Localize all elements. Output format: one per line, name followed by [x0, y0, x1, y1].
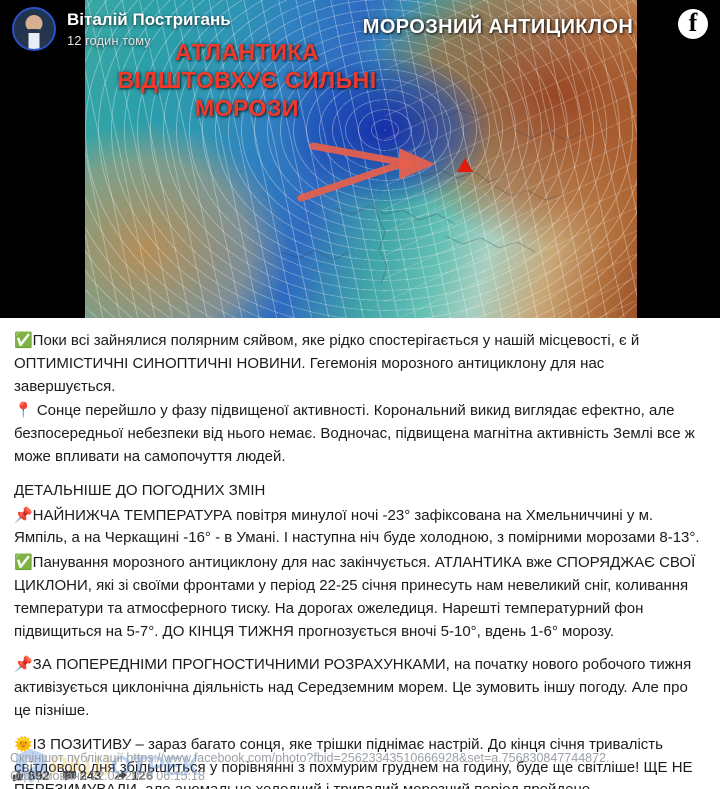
- post-body: ✅Поки всі зайнялися полярним сяйвом, яке…: [0, 318, 720, 789]
- post-media[interactable]: АТЛАНТИКА ВІДШТОВХУЄ СИЛЬНІ МОРОЗИ МОРОЗ…: [0, 0, 720, 318]
- stat-shares-value: 126: [131, 768, 153, 783]
- post-timestamp: 12 годин тому: [67, 33, 231, 48]
- facebook-icon: f: [678, 9, 708, 39]
- paragraph-4: 📌НАЙНИЖЧА ТЕМПЕРАТУРА повітря минулої но…: [14, 505, 706, 551]
- author-name[interactable]: Віталій Постригань: [67, 10, 231, 30]
- paragraph-6: 📌ЗА ПОПЕРЕДНІМИ ПРОГНОСТИЧНИМИ РОЗРАХУНК…: [14, 654, 706, 722]
- paragraph-1: ✅Поки всі зайнялися полярним сяйвом, яке…: [14, 330, 706, 398]
- share-arrow-icon: [113, 768, 128, 783]
- stat-shares[interactable]: 126: [113, 768, 153, 783]
- paragraph-5: ✅Панування морозного антициклону для нас…: [14, 552, 706, 643]
- facebook-icon-glyph: f: [689, 10, 698, 36]
- facebook-post-card: АТЛАНТИКА ВІДШТОВХУЄ СИЛЬНІ МОРОЗИ МОРОЗ…: [0, 0, 720, 789]
- comment-icon: [62, 768, 77, 783]
- post-header-text: Віталій Постригань 12 годин тому: [67, 10, 231, 48]
- avatar[interactable]: [12, 7, 56, 51]
- paragraph-3-heading: ДЕТАЛЬНІШЕ ДО ПОГОДНИХ ЗМІН: [14, 480, 706, 503]
- red-triangle-marker-icon: [457, 158, 473, 172]
- avatar-shirt: [29, 33, 40, 51]
- red-arrow-icon: [295, 140, 495, 215]
- post-stats: 892 243 126: [10, 768, 161, 783]
- post-header: Віталій Постригань 12 годин тому f: [0, 0, 720, 58]
- paragraph-2: 📍 Сонце перейшло у фазу підвищеної актив…: [14, 400, 706, 468]
- stat-comments-value: 243: [80, 768, 102, 783]
- stat-likes[interactable]: 892: [10, 768, 50, 783]
- stat-likes-value: 892: [28, 768, 50, 783]
- stat-comments[interactable]: 243: [62, 768, 102, 783]
- thumbs-up-icon: [10, 768, 25, 783]
